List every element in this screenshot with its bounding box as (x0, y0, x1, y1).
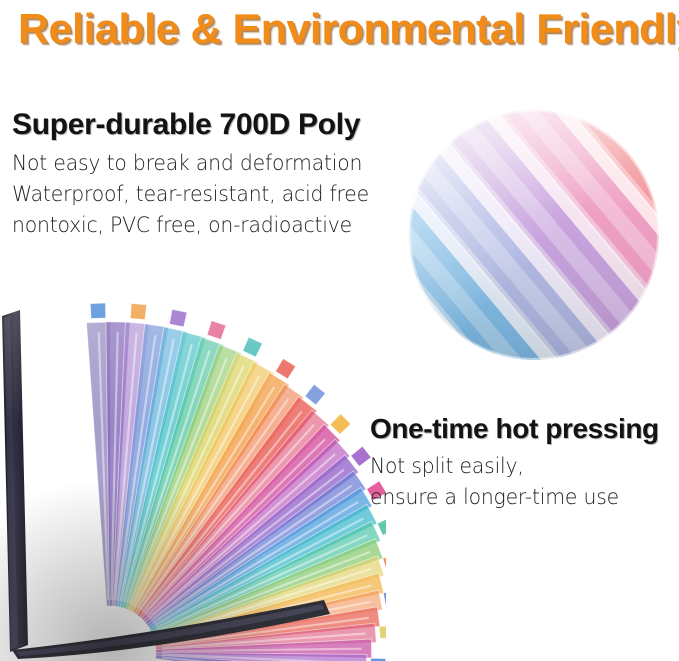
feature-body: Not easy to break and deformation Waterp… (12, 148, 412, 241)
feature-block-super-durable-poly: Super-durable 700D Poly Not easy to brea… (12, 108, 412, 241)
feature-body-line: Not easy to break and deformation (12, 148, 400, 179)
feature-body-line: nontoxic, PVC free, on-radioactive (12, 210, 400, 241)
expanding-file-folder-image (0, 300, 386, 661)
banner-title: Reliable & Environmental Friendly (18, 2, 679, 58)
feature-body-line: Waterproof, tear-resistant, acid free (12, 179, 400, 210)
feature-heading: Super-durable 700D Poly (12, 108, 412, 142)
feature-block-one-time-hot-pressing: One-time hot pressing Not split easily, … (370, 412, 675, 513)
closeup-folder-edges-image (409, 110, 659, 360)
feature-body-line: Not split easily, (370, 451, 666, 482)
feature-heading: One-time hot pressing (370, 412, 675, 445)
feature-body: Not split easily, ensure a longer-time u… (370, 451, 675, 513)
product-feature-graphic: Reliable & Environmental Friendly (0, 0, 679, 661)
feature-body-line: ensure a longer-time use (370, 482, 666, 513)
